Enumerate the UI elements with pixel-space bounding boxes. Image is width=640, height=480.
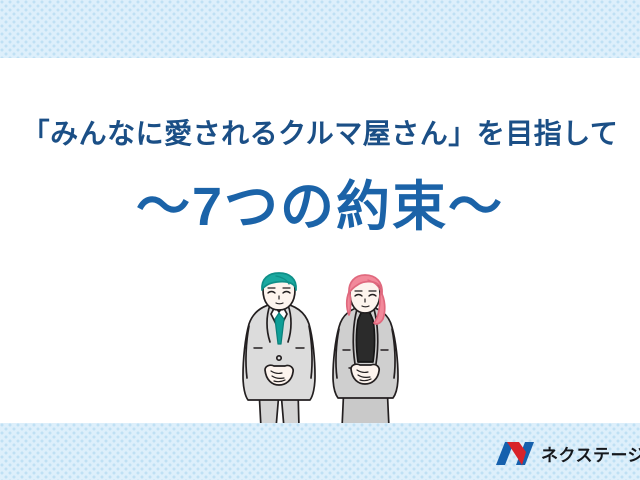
decorative-band-top <box>0 0 640 58</box>
nextage-n-mark-icon <box>495 440 535 466</box>
brand-logo-text: ネクステージ <box>541 441 640 466</box>
female-staff-figure <box>333 275 398 428</box>
slide-canvas: 「みんなに愛されるクルマ屋さん」を目指して ～7つの約束～ <box>0 0 640 480</box>
male-staff-figure <box>243 273 315 428</box>
headline-line-1: 「みんなに愛されるクルマ屋さん」を目指して <box>0 118 640 150</box>
headline-line-2: ～7つの約束～ <box>0 178 640 237</box>
page-title: 「みんなに愛されるクルマ屋さん」を目指して <box>0 118 640 150</box>
brand-logo: ネクステージ <box>495 438 640 468</box>
page-subtitle: ～7つの約束～ <box>0 178 640 237</box>
bowing-staff-illustration <box>232 272 418 428</box>
